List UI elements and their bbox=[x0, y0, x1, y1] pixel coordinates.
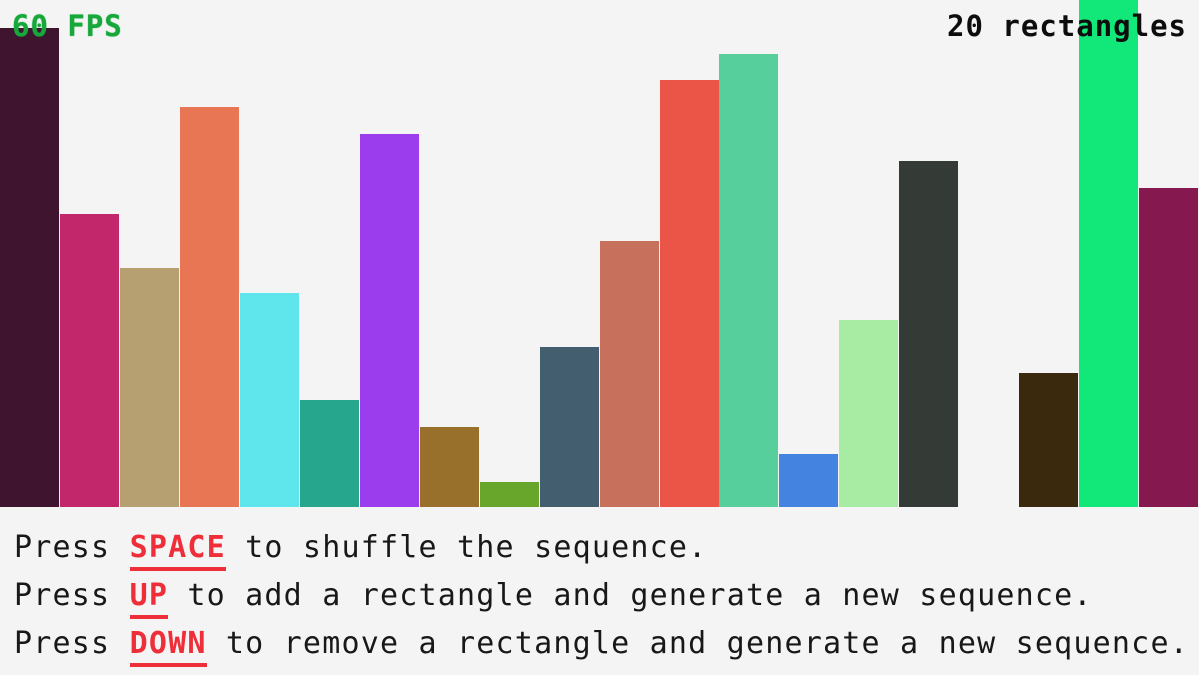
bar-11-salmon-brown bbox=[600, 241, 659, 507]
bar-16-charcoal bbox=[899, 161, 958, 507]
bar-13-mint-green bbox=[719, 54, 778, 507]
instruction-line-3: Press DOWN to remove a rectangle and gen… bbox=[14, 620, 1199, 668]
app-window: 60 FPS 20 rectangles Press SPACE to shuf… bbox=[0, 0, 1199, 675]
bar-4-orange bbox=[180, 107, 239, 507]
bar-19-spring-green bbox=[1079, 0, 1138, 507]
instruction-line-2: Press UP to add a rectangle and generate… bbox=[14, 572, 1199, 620]
instructions-panel: Press SPACE to shuffle the sequence.Pres… bbox=[0, 508, 1199, 675]
bar-15-light-green bbox=[839, 320, 898, 507]
instruction-suffix: to remove a rectangle and generate a new… bbox=[207, 626, 1189, 661]
bar-6-teal bbox=[300, 400, 359, 507]
bar-7-purple bbox=[360, 134, 419, 507]
bar-5-cyan bbox=[240, 293, 299, 507]
bar-3-tan bbox=[120, 268, 179, 507]
bar-20-wine bbox=[1139, 188, 1198, 507]
instruction-suffix: to add a rectangle and generate a new se… bbox=[168, 578, 1093, 613]
instruction-prefix: Press bbox=[14, 626, 130, 661]
bar-1-dark-plum bbox=[0, 28, 59, 507]
key-space[interactable]: SPACE bbox=[130, 530, 226, 571]
instruction-prefix: Press bbox=[14, 578, 130, 613]
key-up[interactable]: UP bbox=[130, 578, 169, 619]
instruction-line-1: Press SPACE to shuffle the sequence. bbox=[14, 524, 1199, 572]
key-down[interactable]: DOWN bbox=[130, 626, 207, 667]
bar-10-slate-blue bbox=[540, 347, 599, 507]
bar-14-blue bbox=[779, 454, 838, 507]
instruction-suffix: to shuffle the sequence. bbox=[226, 530, 708, 565]
bar-2-magenta bbox=[60, 214, 119, 507]
instruction-prefix: Press bbox=[14, 530, 130, 565]
bar-8-brown bbox=[420, 427, 479, 507]
rectangle-count-label: 20 rectangles bbox=[947, 12, 1187, 41]
bar-chart-canvas[interactable] bbox=[0, 0, 1199, 508]
bar-12-red bbox=[660, 80, 719, 507]
bar-9-olive-green bbox=[480, 482, 539, 507]
fps-counter: 60 FPS bbox=[12, 12, 123, 41]
bar-18-dark-brown bbox=[1019, 373, 1078, 507]
